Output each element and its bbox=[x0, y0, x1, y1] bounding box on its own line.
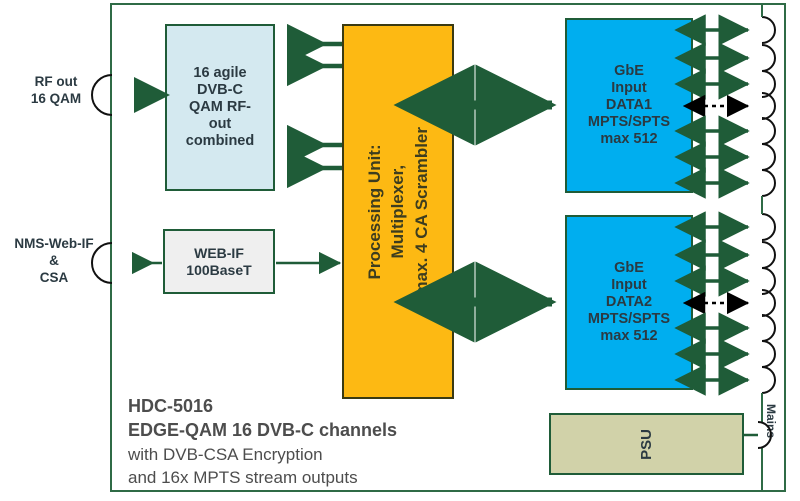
caption-line2: EDGE-QAM 16 DVB-C channels bbox=[128, 418, 528, 442]
web-if-line-1: 100BaseT bbox=[186, 262, 251, 279]
rf-combiner-line-4: combined bbox=[186, 133, 254, 150]
block-processing-unit: Processing Unit: Multiplexer, max. 4 CA … bbox=[342, 24, 454, 399]
block-gbe-input-data2: GbE Input DATA2 MPTS/SPTS max 512 bbox=[565, 215, 693, 390]
processing-unit-line2: Multiplexer, bbox=[387, 127, 408, 296]
block-rf-combiner: 16 agile DVB-C QAM RF- out combined bbox=[165, 24, 275, 191]
block-diagram: RF out 16 QAM NMS-Web-IF & CSA Mains 16 … bbox=[0, 0, 800, 501]
caption-line1: HDC-5016 bbox=[128, 394, 528, 418]
port-label-nms-web-if: NMS-Web-IF & CSA bbox=[2, 236, 106, 287]
caption-line3: with DVB-CSA Encryption bbox=[128, 443, 528, 467]
processing-unit-line3: max. 4 CA Scrambler bbox=[411, 127, 432, 296]
gbe2-line-3: MPTS/SPTS bbox=[588, 311, 670, 328]
rf-out-line1: RF out bbox=[6, 74, 106, 91]
gbe1-line-1: Input bbox=[588, 80, 670, 97]
gbe1-line-0: GbE bbox=[588, 63, 670, 80]
block-web-if: WEB-IF 100BaseT bbox=[163, 229, 275, 294]
psu-label: PSU bbox=[638, 429, 656, 460]
block-gbe-input-data1: GbE Input DATA1 MPTS/SPTS max 512 bbox=[565, 18, 693, 193]
nms-line2: & bbox=[2, 253, 106, 270]
gbe2-line-1: Input bbox=[588, 277, 670, 294]
rf-combiner-line-0: 16 agile bbox=[186, 65, 254, 82]
rf-out-line2: 16 QAM bbox=[6, 91, 106, 108]
gbe2-line-0: GbE bbox=[588, 260, 670, 277]
diagram-caption: HDC-5016 EDGE-QAM 16 DVB-C channels with… bbox=[128, 394, 528, 490]
rf-combiner-line-3: out bbox=[186, 116, 254, 133]
gbe1-line-3: MPTS/SPTS bbox=[588, 114, 670, 131]
gbe1-line-4: max 512 bbox=[588, 131, 670, 148]
block-psu: PSU bbox=[549, 413, 744, 475]
nms-line3: CSA bbox=[2, 270, 106, 287]
nms-line1: NMS-Web-IF bbox=[2, 236, 106, 253]
processing-unit-line1: Processing Unit: bbox=[364, 127, 385, 296]
port-label-rf-out: RF out 16 QAM bbox=[6, 74, 106, 108]
gbe1-line-2: DATA1 bbox=[588, 97, 670, 114]
rf-combiner-line-1: DVB-C bbox=[186, 82, 254, 99]
port-label-mains: Mains bbox=[762, 404, 778, 438]
gbe2-line-2: DATA2 bbox=[588, 294, 670, 311]
web-if-line-0: WEB-IF bbox=[186, 245, 251, 262]
caption-line4: and 16x MPTS stream outputs bbox=[128, 466, 528, 490]
rf-combiner-line-2: QAM RF- bbox=[186, 99, 254, 116]
gbe2-line-4: max 512 bbox=[588, 328, 670, 345]
